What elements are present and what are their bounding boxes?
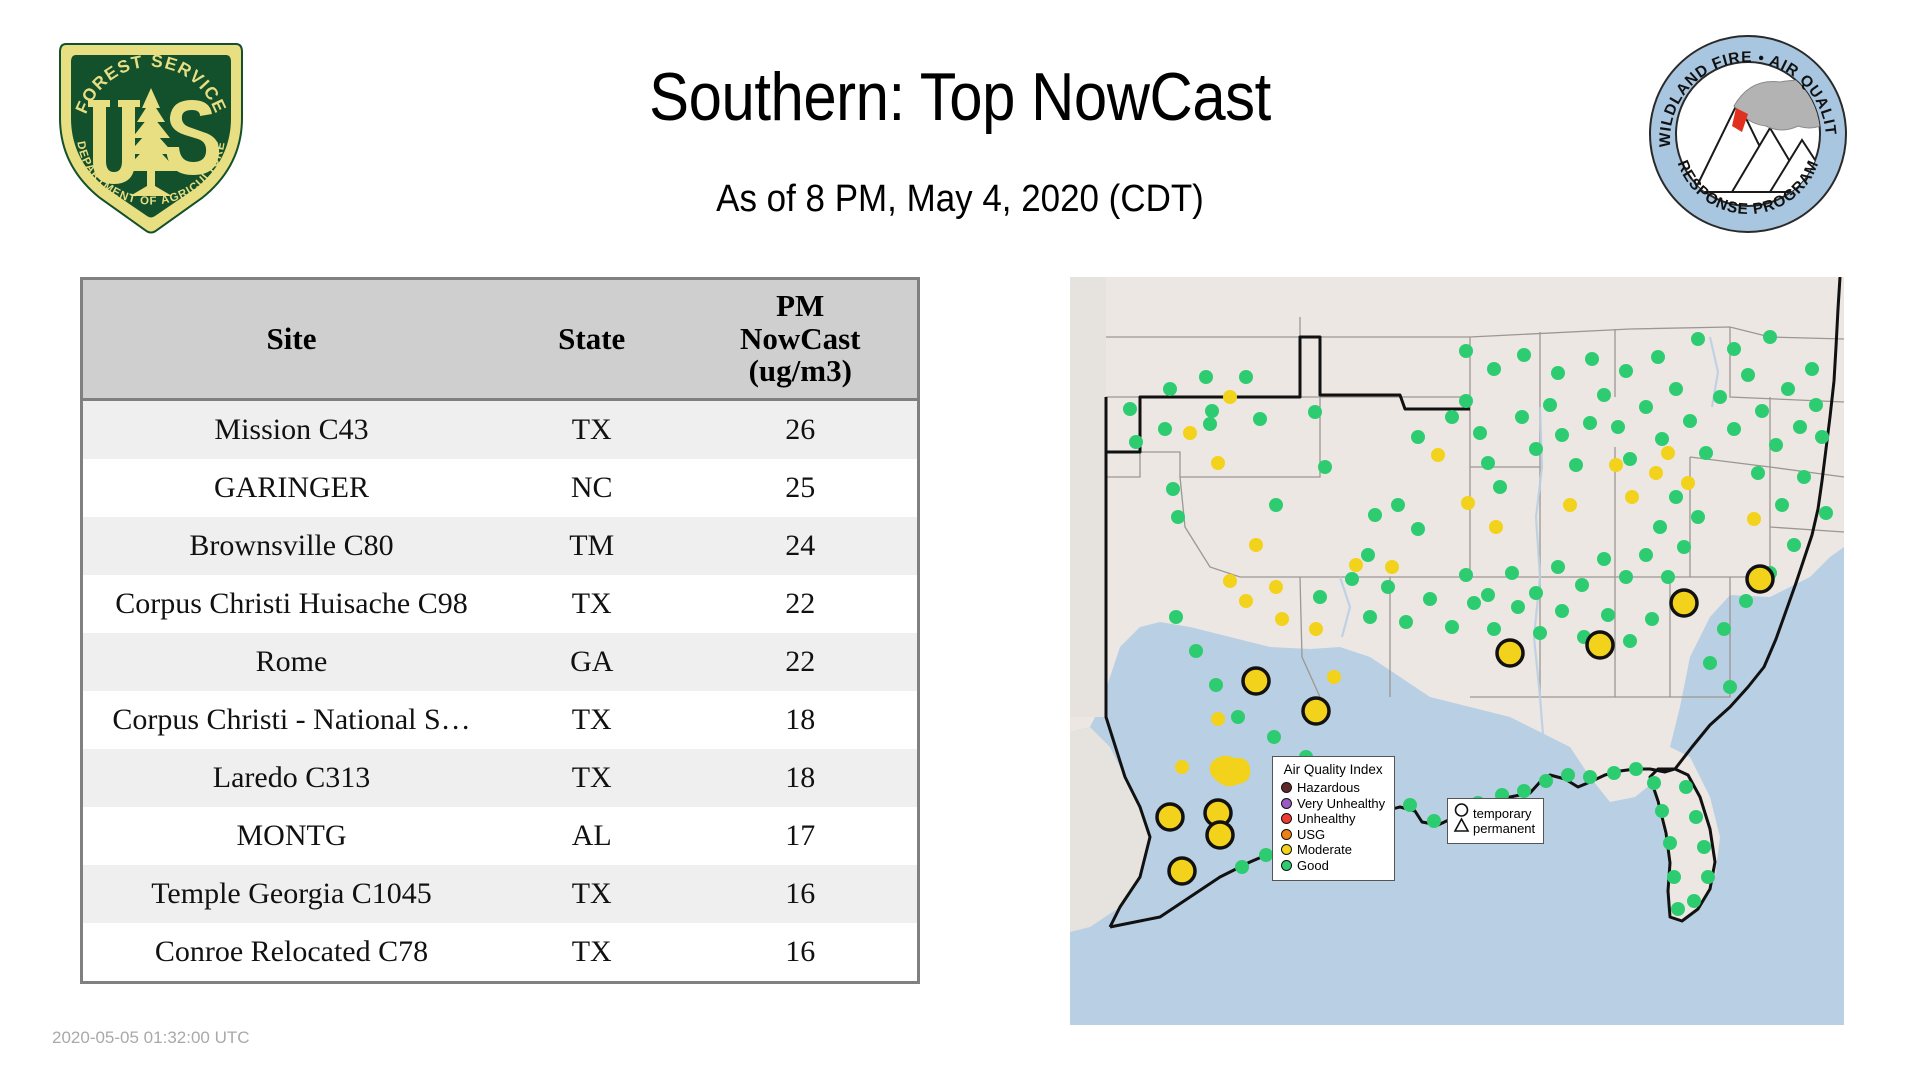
- cell-value: 16: [683, 923, 917, 981]
- permanent-label: permanent: [1473, 821, 1535, 836]
- temporary-label: temporary: [1473, 806, 1535, 821]
- cell-value: 18: [683, 691, 917, 749]
- legend-item-hazardous: Hazardous: [1281, 780, 1385, 796]
- cell-value: 16: [683, 865, 917, 923]
- legend-item-moderate: Moderate: [1281, 842, 1385, 858]
- legend-item-unhealthy: Unhealthy: [1281, 811, 1385, 827]
- legend-label: Very Unhealthy: [1297, 796, 1385, 811]
- shape-legend-labels: temporary permanent: [1473, 806, 1535, 836]
- cell-state: AL: [500, 807, 683, 865]
- cell-state: TX: [500, 865, 683, 923]
- triangle-icon: [1455, 819, 1468, 831]
- cell-state: NC: [500, 459, 683, 517]
- cell-state: TX: [500, 575, 683, 633]
- table-header-row: Site State PM NowCast (ug/m3): [83, 280, 917, 399]
- cell-state: GA: [500, 633, 683, 691]
- table-row: Temple Georgia C1045 TX 16: [83, 865, 917, 923]
- cell-site: MONTG: [83, 807, 500, 865]
- table-row: Laredo C313 TX 18: [83, 749, 917, 807]
- usg-swatch-icon: [1281, 829, 1292, 840]
- cell-site: GARINGER: [83, 459, 500, 517]
- very-unhealthy-swatch-icon: [1281, 798, 1292, 809]
- good-swatch-icon: [1281, 860, 1292, 871]
- cell-site: Mission C43: [83, 399, 500, 459]
- page-subtitle: As of 8 PM, May 4, 2020 (CDT): [77, 178, 1843, 221]
- table-row: MONTG AL 17: [83, 807, 917, 865]
- table-row: Conroe Relocated C78 TX 16: [83, 923, 917, 981]
- cell-value: 24: [683, 517, 917, 575]
- cell-site: Rome: [83, 633, 500, 691]
- air-quality-map[interactable]: [1070, 277, 1844, 1025]
- table-row: Corpus Christi Huisache C98 TX 22: [83, 575, 917, 633]
- pm-nowcast-line-2: NowCast: [687, 323, 913, 356]
- table-row: GARINGER NC 25: [83, 459, 917, 517]
- legend-title: Air Quality Index: [1281, 762, 1385, 777]
- air-quality-index-legend: Air Quality Index Hazardous Very Unhealt…: [1272, 756, 1395, 881]
- circle-icon: [1456, 804, 1468, 816]
- table-row: Mission C43 TX 26: [83, 399, 917, 459]
- pm-nowcast-line-3: (ug/m3): [687, 355, 913, 388]
- cell-site: Temple Georgia C1045: [83, 865, 500, 923]
- legend-label: USG: [1297, 827, 1325, 842]
- shape-legend-icons: [1453, 802, 1470, 839]
- top-nowcast-table: Site State PM NowCast (ug/m3) Mission C4…: [80, 277, 920, 984]
- legend-item-good: Good: [1281, 858, 1385, 874]
- table-row: Corpus Christi - National S… TX 18: [83, 691, 917, 749]
- cell-site: Corpus Christi Huisache C98: [83, 575, 500, 633]
- pm-nowcast-line-1: PM: [687, 290, 913, 323]
- cell-state: TX: [500, 399, 683, 459]
- legend-label: Hazardous: [1297, 780, 1360, 795]
- legend-item-very-unhealthy: Very Unhealthy: [1281, 796, 1385, 812]
- cell-site: Laredo C313: [83, 749, 500, 807]
- unhealthy-swatch-icon: [1281, 813, 1292, 824]
- table-row: Rome GA 22: [83, 633, 917, 691]
- table-body: Mission C43 TX 26 GARINGER NC 25 Brownsv…: [83, 399, 917, 981]
- cell-value: 26: [683, 399, 917, 459]
- cell-value: 18: [683, 749, 917, 807]
- legend-label: Good: [1297, 858, 1329, 873]
- cell-site: Conroe Relocated C78: [83, 923, 500, 981]
- cell-site: Corpus Christi - National S…: [83, 691, 500, 749]
- column-header-state: State: [500, 280, 683, 399]
- table-row: Brownsville C80 TM 24: [83, 517, 917, 575]
- cell-value: 22: [683, 633, 917, 691]
- column-header-site: Site: [83, 280, 500, 399]
- legend-item-usg: USG: [1281, 827, 1385, 843]
- cell-state: TM: [500, 517, 683, 575]
- generated-timestamp: 2020-05-05 01:32:00 UTC: [52, 1028, 250, 1048]
- legend-label: Moderate: [1297, 842, 1352, 857]
- cell-state: TX: [500, 923, 683, 981]
- page-title: Southern: Top NowCast: [115, 58, 1805, 136]
- cell-state: TX: [500, 691, 683, 749]
- cell-value: 22: [683, 575, 917, 633]
- column-header-pm-nowcast: PM NowCast (ug/m3): [683, 280, 917, 399]
- monitor-type-legend: temporary permanent: [1447, 798, 1544, 844]
- legend-label: Unhealthy: [1297, 811, 1356, 826]
- hazardous-swatch-icon: [1281, 782, 1292, 793]
- cell-value: 25: [683, 459, 917, 517]
- moderate-swatch-icon: [1281, 844, 1292, 855]
- cell-value: 17: [683, 807, 917, 865]
- cell-site: Brownsville C80: [83, 517, 500, 575]
- cell-state: TX: [500, 749, 683, 807]
